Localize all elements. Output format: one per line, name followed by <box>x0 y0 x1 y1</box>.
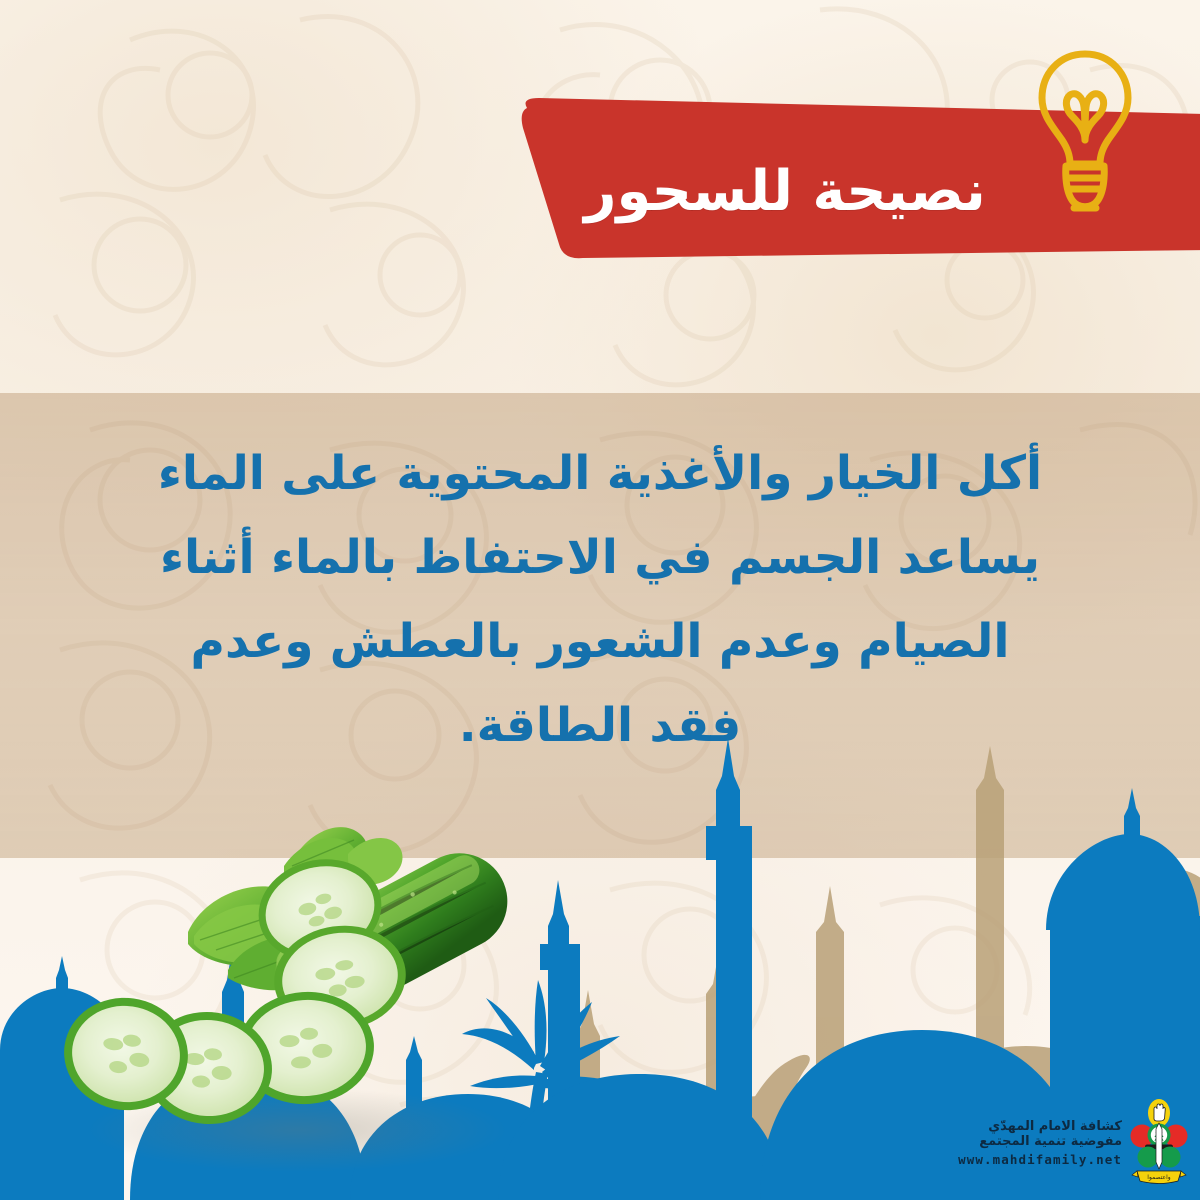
logo-text-block: كشافة الامام المهدّي مفوضية تنمية المجتم… <box>958 1119 1122 1168</box>
logo-line-2: مفوضية تنمية المجتمع <box>958 1134 1122 1150</box>
scout-emblem-icon: واعتصموا <box>1128 1099 1190 1187</box>
body-line-3: الصيام وعدم الشعور بالعطش وعدم <box>60 600 1140 684</box>
body-text: أكل الخيار والأغذية المحتوية على الماء ي… <box>60 432 1140 768</box>
lightbulb-icon <box>1030 48 1140 223</box>
cucumber-photo <box>48 800 568 1190</box>
body-line-1: أكل الخيار والأغذية المحتوية على الماء <box>60 432 1140 516</box>
logo-website[interactable]: www.mahdifamily.net <box>958 1152 1122 1167</box>
emblem-motto: واعتصموا <box>1147 1174 1170 1181</box>
body-line-2: يساعد الجسم في الاحتفاظ بالماء أثناء <box>60 516 1140 600</box>
poster-canvas: نصيحة للسحور أكل الخيار والأغذية المحتوي… <box>0 0 1200 1200</box>
organization-logo[interactable]: كشافة الامام المهدّي مفوضية تنمية المجتم… <box>975 1098 1190 1188</box>
logo-line-1: كشافة الامام المهدّي <box>958 1119 1122 1135</box>
